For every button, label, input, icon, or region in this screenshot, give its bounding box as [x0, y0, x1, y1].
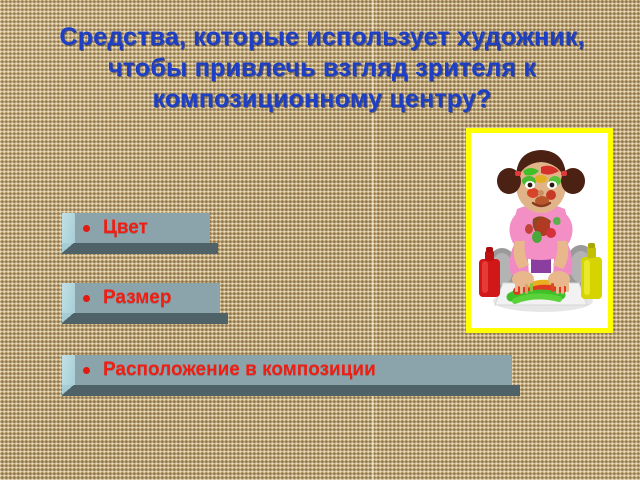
banner-left-edge	[62, 283, 75, 313]
banner-shadow-corner	[62, 243, 75, 254]
bullet-dot-icon	[83, 295, 90, 302]
bullet-item-composition-placement[interactable]: Расположение в композиции	[62, 355, 512, 385]
banner-face: Размер	[75, 283, 220, 313]
banner-left-edge	[62, 355, 75, 385]
banner-shadow-corner	[62, 385, 75, 396]
banner-shadow-bar	[75, 243, 218, 254]
banner-face: Цвет	[75, 213, 210, 243]
slide-canvas: Средства, которые использует художник, ч…	[0, 0, 640, 480]
banner-face: Расположение в композиции	[75, 355, 512, 385]
bullet-dot-icon	[83, 367, 90, 374]
bullet-label: Цвет	[103, 217, 148, 239]
banner-shadow-bar	[75, 313, 228, 324]
girl-finger-painting-illustration	[471, 133, 608, 328]
bullet-item-color[interactable]: Цвет	[62, 213, 210, 243]
page-title: Средства, которые использует художник, ч…	[48, 22, 596, 115]
bullet-label: Размер	[103, 287, 171, 309]
banner-shadow-corner	[62, 313, 75, 324]
bullet-item-size[interactable]: Размер	[62, 283, 220, 313]
girl-finger-painting-image	[471, 133, 608, 328]
banner-left-edge	[62, 213, 75, 243]
bullet-label: Расположение в композиции	[103, 359, 376, 381]
picture-frame	[466, 128, 613, 333]
banner-shadow-bar	[75, 385, 520, 396]
bullet-dot-icon	[83, 225, 90, 232]
